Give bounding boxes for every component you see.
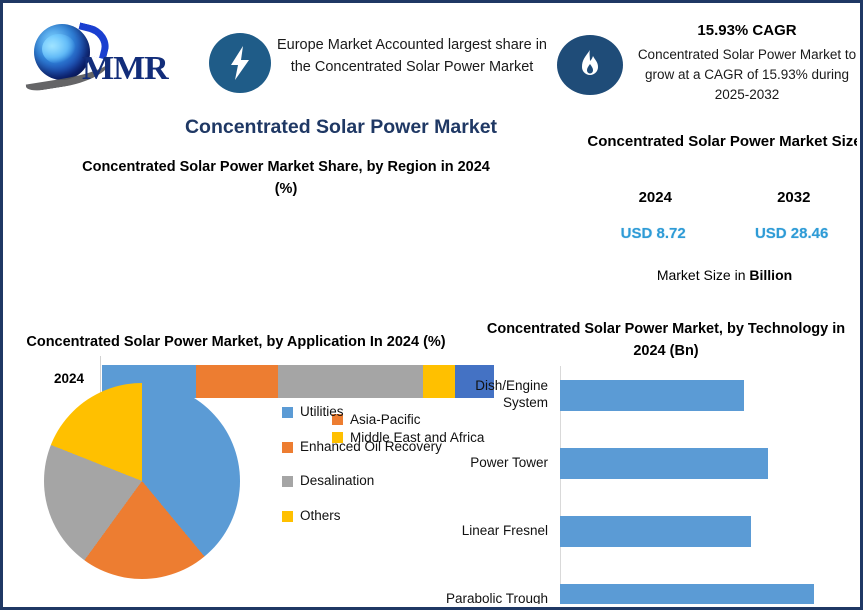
tech-row-parabolic-trough: Parabolic Trough — [436, 570, 857, 604]
header-right-text: Concentrated Solar Power Market to grow … — [631, 45, 857, 106]
cagr-headline: 15.93% CAGR — [631, 20, 857, 43]
market-size-footnote: Market Size in Billion — [586, 267, 857, 283]
market-size-values: USD 8.72 USD 28.46 — [586, 225, 857, 242]
market-size-value-end: USD 28.46 — [755, 225, 828, 242]
legend-label: Desalination — [300, 472, 374, 490]
legend-swatch-icon — [282, 476, 293, 487]
flame-badge — [557, 35, 623, 95]
infographic-frame: MMR Europe Market Accounted largest shar… — [0, 0, 863, 610]
lightning-badge — [209, 33, 271, 93]
tech-plot-area: Dish/Engine System Power Tower Linear Fr… — [436, 366, 857, 604]
tech-bar — [560, 448, 768, 479]
market-size-footnote-prefix: Market Size in — [657, 267, 750, 283]
market-size-title: Concentrated Solar Power Market Size — [586, 131, 857, 154]
technology-bar-chart: Concentrated Solar Power Market, by Tech… — [436, 318, 857, 604]
legend-label: Utilities — [300, 403, 344, 421]
pie-legend-item-others: Others — [282, 507, 457, 525]
header-right-block: 15.93% CAGR Concentrated Solar Power Mar… — [631, 20, 857, 105]
region-chart-title: Concentrated Solar Power Market Share, b… — [76, 156, 496, 201]
pie-legend-item-desalination: Desalination — [282, 472, 457, 490]
legend-label: Enhanced Oil Recovery — [300, 438, 442, 456]
tech-category-label: Parabolic Trough — [436, 591, 554, 604]
pie-graphic — [44, 383, 240, 579]
mmr-logo: MMR — [22, 20, 192, 92]
tech-category-label: Linear Fresnel — [436, 523, 554, 540]
legend-swatch-icon — [282, 511, 293, 522]
lightning-bolt-icon — [209, 33, 271, 93]
tech-row-power-tower: Power Tower — [436, 434, 857, 492]
market-size-year-end: 2032 — [777, 189, 810, 206]
pie-legend: Utilities Enhanced Oil Recovery Desalina… — [282, 403, 457, 541]
flame-icon — [557, 35, 623, 95]
tech-chart-title: Concentrated Solar Power Market, by Tech… — [476, 318, 856, 363]
brand-name: MMR — [82, 50, 168, 88]
application-pie-chart: Concentrated Solar Power Market, by Appl… — [14, 331, 464, 604]
pie-legend-item-enhanced-oil-recovery: Enhanced Oil Recovery — [282, 438, 457, 456]
tech-bar — [560, 584, 814, 605]
tech-bar — [560, 380, 744, 411]
region-share-chart: Concentrated Solar Power Market Share, b… — [16, 156, 521, 326]
market-size-years: 2024 2032 — [586, 189, 857, 206]
market-size-panel: Concentrated Solar Power Market Size 202… — [586, 131, 857, 301]
legend-swatch-icon — [282, 442, 293, 453]
market-size-footnote-unit: Billion — [749, 267, 792, 283]
legend-label: Others — [300, 507, 341, 525]
tech-category-label: Power Tower — [436, 455, 554, 472]
tech-bar — [560, 516, 751, 547]
legend-swatch-icon — [282, 407, 293, 418]
tech-row-linear-fresnel: Linear Fresnel — [436, 502, 857, 560]
pie-legend-item-utilities: Utilities — [282, 403, 457, 421]
tech-category-label: Dish/Engine System — [436, 378, 554, 412]
market-size-value-start: USD 8.72 — [621, 225, 686, 242]
tech-row-dish-engine-system: Dish/Engine System — [436, 366, 857, 424]
pie-chart-title: Concentrated Solar Power Market, by Appl… — [26, 331, 446, 353]
header: MMR Europe Market Accounted largest shar… — [6, 6, 857, 111]
page-title: Concentrated Solar Power Market — [106, 116, 576, 139]
infographic-canvas: MMR Europe Market Accounted largest shar… — [6, 6, 857, 604]
market-size-year-start: 2024 — [639, 189, 672, 206]
header-middle-text: Europe Market Accounted largest share in… — [276, 34, 548, 78]
